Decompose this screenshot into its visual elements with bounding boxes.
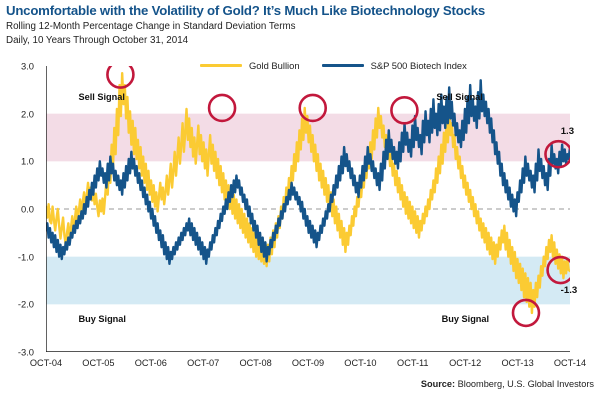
x-tick-label: OCT-08 — [240, 358, 272, 368]
x-tick-label: OCT-14 — [554, 358, 586, 368]
y-tick-label: 2.0 — [21, 108, 34, 119]
x-tick-label: OCT-13 — [502, 358, 534, 368]
x-tick-label: OCT-05 — [82, 358, 114, 368]
chart-figure: Uncomfortable with the Volatility of Gol… — [0, 0, 600, 400]
x-tick-label: OCT-04 — [30, 358, 62, 368]
source-note: Source: Bloomberg, U.S. Global Investors — [421, 379, 594, 389]
x-tick-label: OCT-10 — [344, 358, 376, 368]
page-title: Uncomfortable with the Volatility of Gol… — [6, 3, 485, 18]
x-tick-label: OCT-11 — [397, 358, 428, 368]
x-axis-tick-labels: OCT-04OCT-05OCT-06OCT-07OCT-08OCT-09OCT-… — [0, 356, 600, 372]
band-buy-signal — [46, 257, 570, 305]
x-tick-label: OCT-09 — [292, 358, 324, 368]
value-annotation: -1.3 — [561, 285, 578, 296]
y-tick-label: -2.0 — [18, 299, 34, 310]
source-label: Source: — [421, 379, 455, 389]
band-label-sell-signal: Sell Signal — [436, 92, 482, 102]
band-label-sell-signal: Sell Signal — [78, 92, 124, 102]
y-axis-tick-labels: 3.02.01.00.0-1.0-2.0-3.0 — [0, 66, 44, 352]
x-tick-label: OCT-07 — [187, 358, 219, 368]
band-label-buy-signal: Buy Signal — [78, 314, 125, 324]
value-annotation: 1.3 — [561, 126, 574, 137]
x-tick-label: OCT-06 — [135, 358, 167, 368]
chart-subtitle-2: Daily, 10 Years Through October 31, 2014 — [6, 35, 188, 46]
chart-subtitle-1: Rolling 12-Month Percentage Change in St… — [6, 21, 296, 32]
y-tick-label: 3.0 — [21, 61, 34, 72]
band-label-buy-signal: Buy Signal — [442, 314, 489, 324]
y-tick-label: 0.0 — [21, 204, 34, 215]
source-text: Bloomberg, U.S. Global Investors — [455, 379, 594, 389]
y-tick-label: -1.0 — [18, 251, 34, 262]
x-tick-label: OCT-12 — [449, 358, 481, 368]
y-tick-label: 1.0 — [21, 156, 34, 167]
plot-area — [46, 66, 570, 352]
